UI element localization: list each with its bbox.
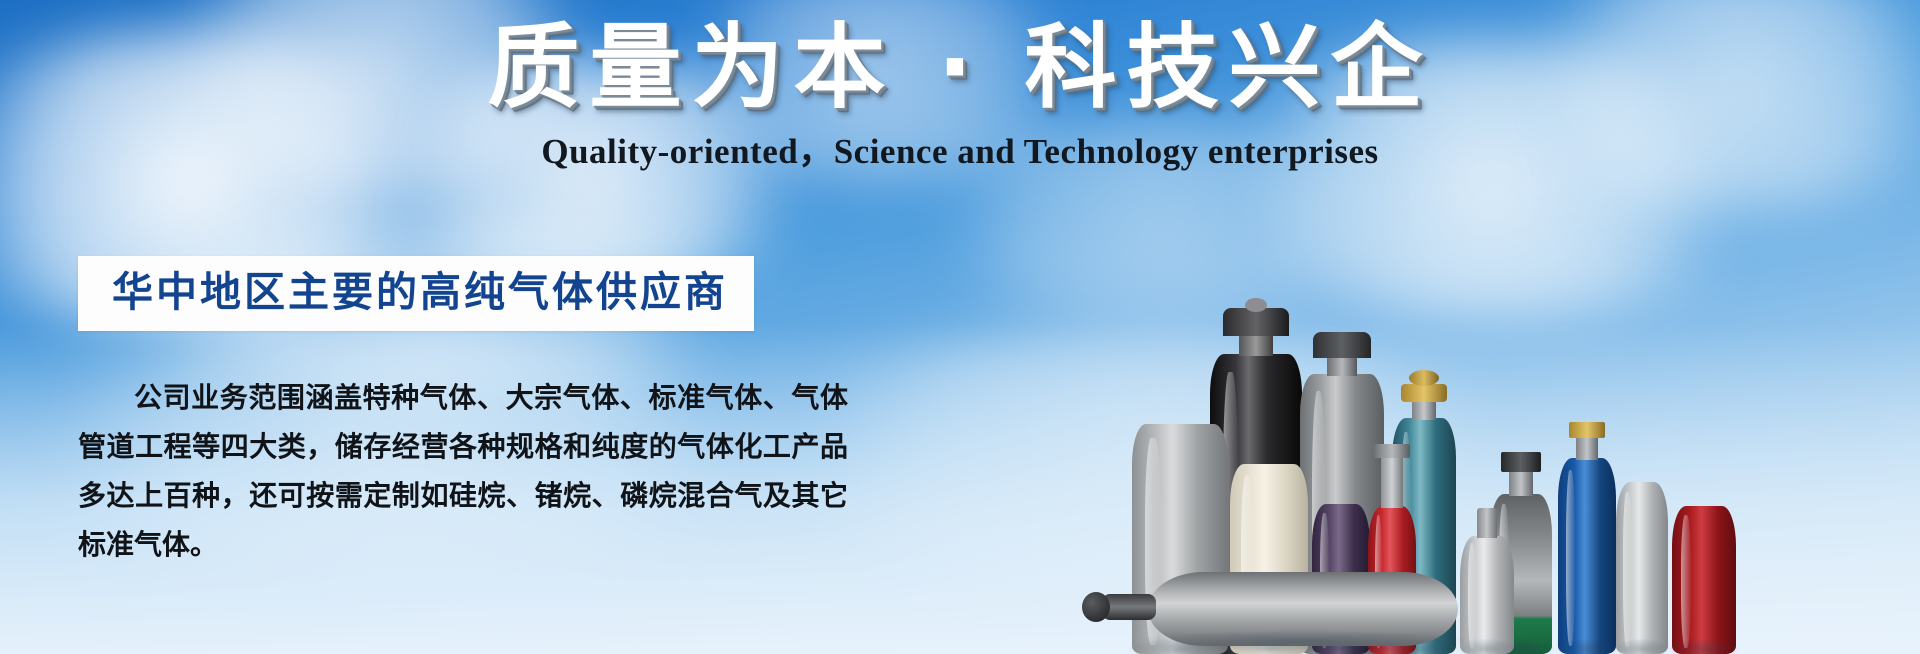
cylinder-valve bbox=[1569, 422, 1605, 438]
cylinder-body bbox=[1460, 536, 1514, 654]
cylinder-shadow bbox=[1555, 638, 1620, 654]
cylinder-neck bbox=[1509, 470, 1533, 496]
cylinder-cap bbox=[1313, 332, 1371, 358]
tagline-text: 华中地区主要的高纯气体供应商 bbox=[112, 270, 728, 315]
cylinder-body bbox=[1616, 482, 1668, 654]
cylinder-neck bbox=[1239, 334, 1273, 356]
headline-block: 质量为本 · 科技兴企 Quality-oriented，Science and… bbox=[0, 16, 1920, 174]
headline-text: 质量为本 · 科技兴企 bbox=[487, 16, 1432, 119]
promo-banner: 质量为本 · 科技兴企 Quality-oriented，Science and… bbox=[0, 0, 1920, 654]
left-text-block: 华中地区主要的高纯气体供应商 公司业务范围涵盖特种气体、大宗气体、标准气体、气体… bbox=[78, 256, 868, 569]
cylinder-neck bbox=[1412, 400, 1436, 420]
cylinder-neck bbox=[1576, 436, 1598, 460]
description-paragraph: 公司业务范围涵盖特种气体、大宗气体、标准气体、气体管道工程等四大类，储存经营各种… bbox=[78, 373, 848, 569]
cylinder-neck bbox=[1381, 456, 1403, 508]
cylinder-neck bbox=[1327, 356, 1357, 376]
cylinder-body bbox=[1558, 458, 1616, 654]
dark-red-cylinder bbox=[1672, 506, 1736, 654]
cylinder-knob bbox=[1082, 592, 1110, 622]
tagline-box: 华中地区主要的高纯气体供应商 bbox=[78, 256, 754, 331]
cylinder-knob bbox=[1245, 298, 1267, 312]
cylinder-body bbox=[1672, 506, 1736, 654]
lying-grey-cylinder bbox=[1148, 572, 1458, 646]
gas-cylinder-group bbox=[1160, 134, 1920, 654]
cylinder-valve bbox=[1401, 384, 1447, 402]
cylinder-valve bbox=[1501, 452, 1541, 472]
cylinder-handwheel bbox=[1409, 370, 1439, 386]
cylinder-shadow bbox=[1668, 638, 1740, 654]
subtitle-text: Quality-oriented，Science and Technology … bbox=[0, 123, 1920, 174]
cylinder-valve bbox=[1102, 594, 1156, 620]
cylinder-valve bbox=[1374, 444, 1410, 458]
blue-cylinder bbox=[1558, 458, 1616, 654]
cylinder-cap bbox=[1223, 308, 1289, 336]
cylinder-shadow bbox=[1129, 630, 1476, 652]
aluminium-cylinder bbox=[1616, 482, 1668, 654]
aluminium-short-cylinder bbox=[1460, 536, 1514, 654]
cylinder-shadow bbox=[1613, 638, 1671, 654]
cylinder-neck bbox=[1477, 508, 1497, 538]
